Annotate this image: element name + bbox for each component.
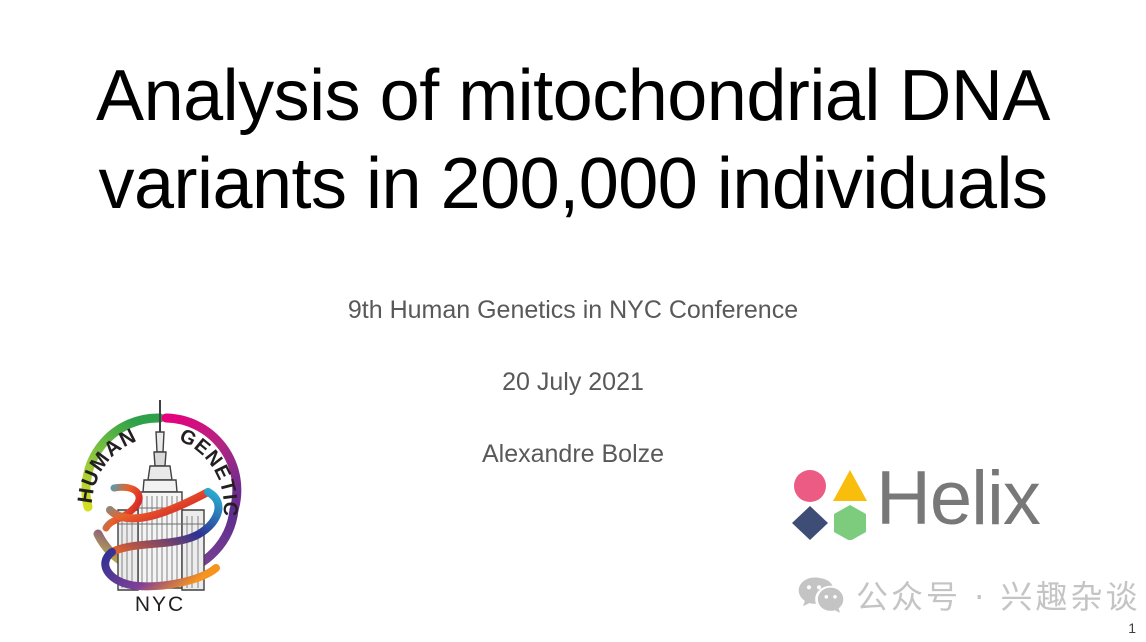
helix-circle-shape xyxy=(794,470,826,502)
page-title: Analysis of mitochondrial DNA variants i… xyxy=(0,52,1146,228)
helix-triangle-shape xyxy=(833,470,867,501)
title-line-1: Analysis of mitochondrial DNA xyxy=(0,52,1146,140)
helix-logo: Helix xyxy=(792,462,1092,544)
title-line-2: variants in 200,000 individuals xyxy=(0,140,1146,228)
wechat-watermark: 公众号 · 兴趣杂谈 xyxy=(798,572,1141,618)
helix-diamond-shape xyxy=(792,506,828,540)
helix-hexagon-shape xyxy=(834,505,866,540)
helix-wordmark: Helix xyxy=(876,458,1040,540)
human-genetics-nyc-logo: HUMAN GENETICS NYC xyxy=(62,392,258,618)
logo-text-nyc: NYC xyxy=(135,593,185,616)
subtitle-conference: 9th Human Genetics in NYC Conference xyxy=(0,296,1146,325)
helix-logo-marks xyxy=(792,468,870,540)
page-number: 1 xyxy=(1128,620,1136,636)
watermark-text: 公众号 · 兴趣杂谈 xyxy=(856,572,1141,618)
wechat-icon xyxy=(798,577,844,613)
slide-canvas: Analysis of mitochondrial DNA variants i… xyxy=(0,0,1146,642)
